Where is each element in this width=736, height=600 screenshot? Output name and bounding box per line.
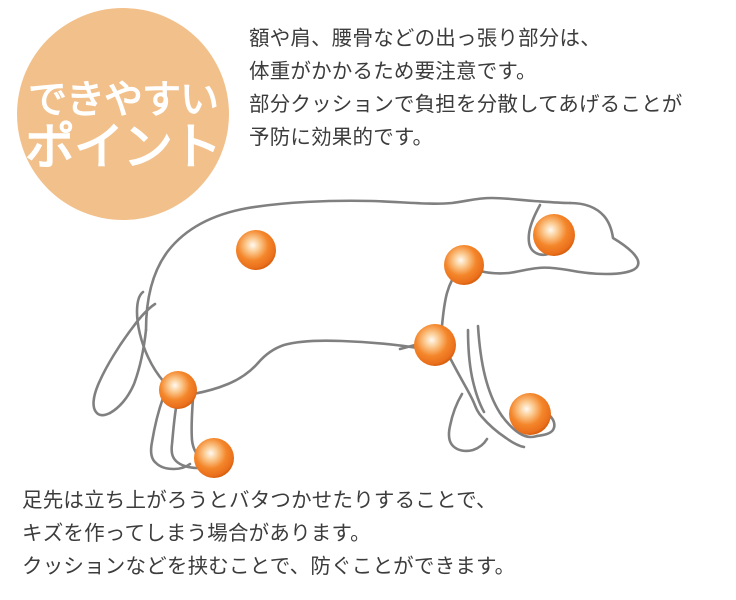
bottom-text-line-3: クッションなどを挟むことで、防ぐことができます。 bbox=[22, 550, 515, 583]
illustration-page: できやすい ポイント 額や肩、腰骨などの出っ張り部分は、 体重がかかるため要注意… bbox=[0, 0, 736, 600]
bottom-text-line-1: 足先は立ち上がろうとバタつかせたりすることで、 bbox=[22, 484, 515, 517]
top-text-line-4: 予防に効果的です。 bbox=[249, 121, 682, 154]
badge-line-2: ポイント bbox=[25, 122, 221, 173]
top-text-line-2: 体重がかかるため要注意です。 bbox=[249, 55, 682, 88]
pressure-point-elbow bbox=[414, 324, 456, 366]
pressure-point-forehead bbox=[533, 214, 575, 256]
bottom-description-text: 足先は立ち上がろうとバタつかせたりすることで、 キズを作ってしまう場合があります… bbox=[22, 484, 515, 583]
pressure-point-markers bbox=[159, 214, 575, 478]
pressure-point-front-paw bbox=[509, 393, 551, 435]
pressure-point-hock bbox=[159, 371, 197, 409]
bottom-text-line-2: キズを作ってしまう場合があります。 bbox=[22, 517, 515, 550]
top-text-line-1: 額や肩、腰骨などの出っ張り部分は、 bbox=[249, 22, 682, 55]
pressure-point-hind-paw bbox=[194, 438, 234, 478]
dog-body-outline bbox=[94, 198, 639, 469]
dekiyasui-point-badge: できやすい ポイント bbox=[17, 8, 229, 220]
top-description-text: 額や肩、腰骨などの出っ張り部分は、 体重がかかるため要注意です。 部分クッション… bbox=[249, 22, 682, 154]
top-text-line-3: 部分クッションで負担を分散してあげることが bbox=[249, 88, 682, 121]
badge-line-1: できやすい bbox=[28, 81, 218, 121]
pressure-point-shoulder bbox=[444, 245, 484, 285]
pressure-point-hip bbox=[236, 230, 276, 270]
